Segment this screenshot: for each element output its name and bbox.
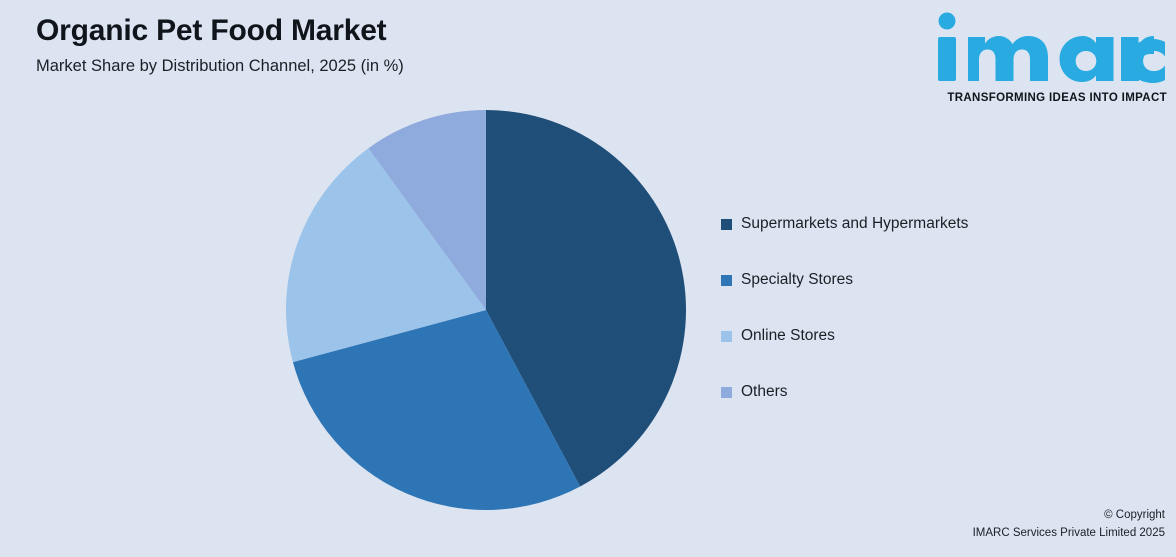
legend-swatch-icon [721,331,732,342]
chart-canvas: Organic Pet Food Market Market Share by … [0,0,1176,557]
legend-item[interactable]: Others [721,364,1141,420]
legend-item[interactable]: Online Stores [721,308,1141,364]
legend-item-label: Others [741,384,788,400]
chart-subtitle: Market Share by Distribution Channel, 20… [36,57,404,76]
logo-tagline: TRANSFORMING IDEAS INTO IMPACT [947,92,1167,104]
pie-svg [286,110,686,510]
page-title: Organic Pet Food Market [36,14,386,48]
imarc-wordmark-icon [930,12,1168,86]
legend-item[interactable]: Specialty Stores [721,252,1141,308]
legend-item-label: Supermarkets and Hypermarkets [741,216,968,232]
legend-item[interactable]: Supermarkets and Hypermarkets [721,196,1141,252]
legend-swatch-icon [721,387,732,398]
copyright-notice: © Copyright IMARC Services Private Limit… [973,507,1165,543]
pie-chart [286,110,686,510]
copyright-line-2: IMARC Services Private Limited 2025 [973,525,1165,543]
legend-item-label: Online Stores [741,328,835,344]
chart-legend: Supermarkets and HypermarketsSpecialty S… [721,196,1141,420]
legend-item-label: Specialty Stores [741,272,853,288]
copyright-line-1: © Copyright [973,507,1165,525]
legend-swatch-icon [721,275,732,286]
imarc-logo: TRANSFORMING IDEAS INTO IMPACT [930,12,1170,106]
legend-swatch-icon [721,219,732,230]
